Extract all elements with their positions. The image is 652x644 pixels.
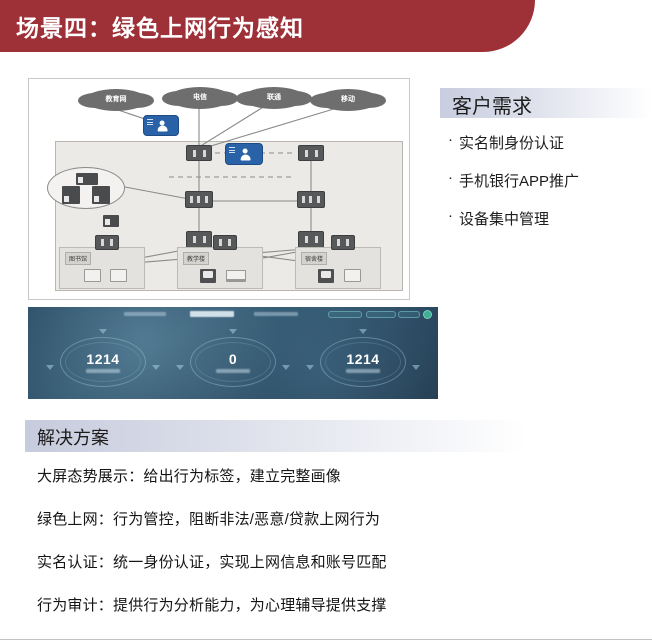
router-device-1 (185, 191, 213, 208)
gauge-center: 0 (190, 337, 276, 387)
server-rack-icon (76, 173, 98, 185)
network-diagram-card: 教育网 电信 联通 移动 (28, 78, 410, 300)
gauge-marker-icon (359, 329, 367, 334)
dashboard-filter-pill-2[interactable] (366, 311, 396, 318)
requirements-title: 客户需求 (452, 90, 532, 119)
server-rack-icon (62, 186, 80, 204)
requirements-list: · 实名制身份认证 · 手机银行APP推广 · 设备集中管理 (448, 132, 652, 246)
building-label: 图书馆 (65, 252, 91, 265)
pc-icon (200, 269, 216, 283)
access-switch-library (95, 235, 119, 250)
gauge-value: 0 (229, 352, 237, 367)
security-appliance-icon-mid (225, 143, 263, 165)
gauge-left: 1214 (60, 337, 146, 387)
building-label: 教学楼 (183, 252, 209, 265)
dashboard-preview: 1214 0 1214 (28, 307, 438, 399)
solution-list: 大屏态势展示：给出行为标签，建立完整画像 绿色上网：行为管控，阻断非法/恶意/贷… (37, 465, 637, 637)
bottom-divider (0, 639, 652, 640)
solution-line: 行为审计：提供行为分析能力，为心理辅导提供支撑 (37, 594, 637, 615)
dashboard-left-text (124, 312, 166, 316)
header-banner: 场景四：绿色上网行为感知 (0, 0, 535, 52)
dashboard-filter-pill-3[interactable] (398, 311, 420, 318)
cloud-isp-1: 教育网 (85, 89, 147, 111)
list-item: · 手机银行APP推广 (448, 170, 652, 191)
user-icon (157, 120, 168, 131)
datacenter-cloud (47, 167, 125, 209)
dashboard-topbar (28, 307, 438, 321)
access-switch-dormitory (331, 235, 355, 250)
list-item: · 实名制身份认证 (448, 132, 652, 153)
laptop-icon (226, 270, 246, 282)
desktop-icon (84, 269, 101, 282)
cloud-label: 联通 (262, 94, 286, 102)
solution-line: 实名认证：统一身份认证，实现上网信息和账号匹配 (37, 551, 637, 572)
dashboard-center-title (190, 311, 234, 317)
cloud-isp-4: 移动 (317, 89, 379, 111)
cloud-label: 移动 (336, 96, 360, 104)
firewall-device-2 (298, 145, 324, 161)
gauge-marker-icon (46, 365, 54, 370)
desktop-icon (344, 269, 361, 282)
gauge-marker-icon (152, 365, 160, 370)
appliance-lines-icon (147, 119, 153, 127)
gauge-caption (216, 369, 250, 373)
building-dormitory: 宿舍楼 (295, 247, 381, 289)
gauge-caption (346, 369, 380, 373)
gauge-value: 1214 (346, 352, 379, 367)
firewall-device-1 (186, 145, 212, 161)
requirement-text: 设备集中管理 (459, 208, 549, 229)
requirement-text: 实名制身份认证 (459, 132, 564, 153)
router-device-2 (297, 191, 325, 208)
dashboard-right-text (254, 312, 298, 316)
core-switch-2 (298, 231, 324, 248)
server-rack-icon (92, 186, 110, 204)
dashboard-status-indicator (423, 310, 432, 319)
gauge-marker-icon (176, 365, 184, 370)
dashboard-filter-pill-1[interactable] (328, 311, 362, 318)
access-switch-teaching (213, 235, 237, 250)
core-switch-1 (186, 231, 212, 248)
wireless-ap-icon (103, 215, 119, 227)
gauge-marker-icon (412, 365, 420, 370)
desktop-icon (110, 269, 127, 282)
slide-page: 场景四：绿色上网行为感知 (0, 0, 652, 644)
solution-title: 解决方案 (37, 424, 109, 450)
cloud-label: 教育网 (104, 96, 128, 104)
pc-icon (318, 269, 334, 283)
bullet-icon: · (448, 132, 453, 148)
gauge-value: 1214 (86, 352, 119, 367)
bullet-icon: · (448, 208, 453, 224)
gauge-marker-icon (99, 329, 107, 334)
list-item: · 设备集中管理 (448, 208, 652, 229)
building-teaching: 教学楼 (177, 247, 263, 289)
solution-line: 绿色上网：行为管控，阻断非法/恶意/贷款上网行为 (37, 508, 637, 529)
security-appliance-icon-top (143, 115, 179, 136)
solution-line: 大屏态势展示：给出行为标签，建立完整画像 (37, 465, 637, 486)
gauge-marker-icon (229, 329, 237, 334)
page-title: 场景四：绿色上网行为感知 (16, 9, 304, 43)
gauge-marker-icon (306, 365, 314, 370)
appliance-lines-icon (229, 147, 235, 155)
gauge-right: 1214 (320, 337, 406, 387)
user-icon (240, 149, 251, 160)
requirement-text: 手机银行APP推广 (459, 170, 579, 191)
gauge-caption (86, 369, 120, 373)
cloud-isp-3: 联通 (243, 87, 305, 109)
building-library: 图书馆 (59, 247, 145, 289)
building-label: 宿舍楼 (301, 252, 327, 265)
gauge-marker-icon (282, 365, 290, 370)
solution-header-band (25, 420, 652, 452)
bullet-icon: · (448, 170, 453, 186)
cloud-label: 电信 (188, 94, 212, 102)
cloud-isp-2: 电信 (169, 87, 231, 109)
